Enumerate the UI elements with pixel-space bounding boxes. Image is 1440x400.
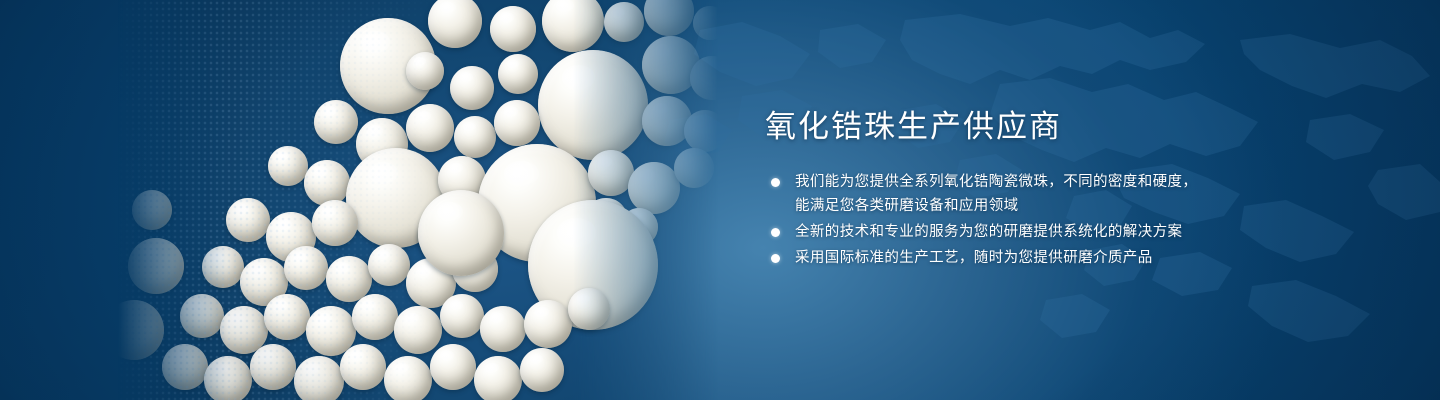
banner-headline: 氧化锆珠生产供应商 — [765, 108, 1062, 146]
list-item-line1: 我们能为您提供全系列氧化锆陶瓷微珠，不同的密度和硬度， — [795, 174, 1197, 190]
list-item: 我们能为您提供全系列氧化锆陶瓷微珠，不同的密度和硬度， 能满足您各类研磨设备和应… — [768, 170, 1308, 218]
bullet-dot-icon — [771, 254, 780, 263]
bullet-dot-icon — [771, 178, 780, 187]
list-item: 全新的技术和专业的服务为您的研磨提供系统化的解决方案 — [768, 220, 1308, 244]
list-item-line1: 全新的技术和专业的服务为您的研磨提供系统化的解决方案 — [795, 224, 1182, 240]
banner-copy: 氧化锆珠生产供应商 我们能为您提供全系列氧化锆陶瓷微珠，不同的密度和硬度， 能满… — [765, 0, 1325, 400]
hero-banner: 氧化锆珠生产供应商 我们能为您提供全系列氧化锆陶瓷微珠，不同的密度和硬度， 能满… — [0, 0, 1440, 400]
list-item-line2: 能满足您各类研磨设备和应用领域 — [795, 194, 1308, 218]
list-item: 采用国际标准的生产工艺，随时为您提供研磨介质产品 — [768, 246, 1308, 270]
banner-feature-list: 我们能为您提供全系列氧化锆陶瓷微珠，不同的密度和硬度， 能满足您各类研磨设备和应… — [768, 170, 1308, 272]
list-item-line1: 采用国际标准的生产工艺，随时为您提供研磨介质产品 — [795, 250, 1153, 266]
bullet-dot-icon — [771, 228, 780, 237]
